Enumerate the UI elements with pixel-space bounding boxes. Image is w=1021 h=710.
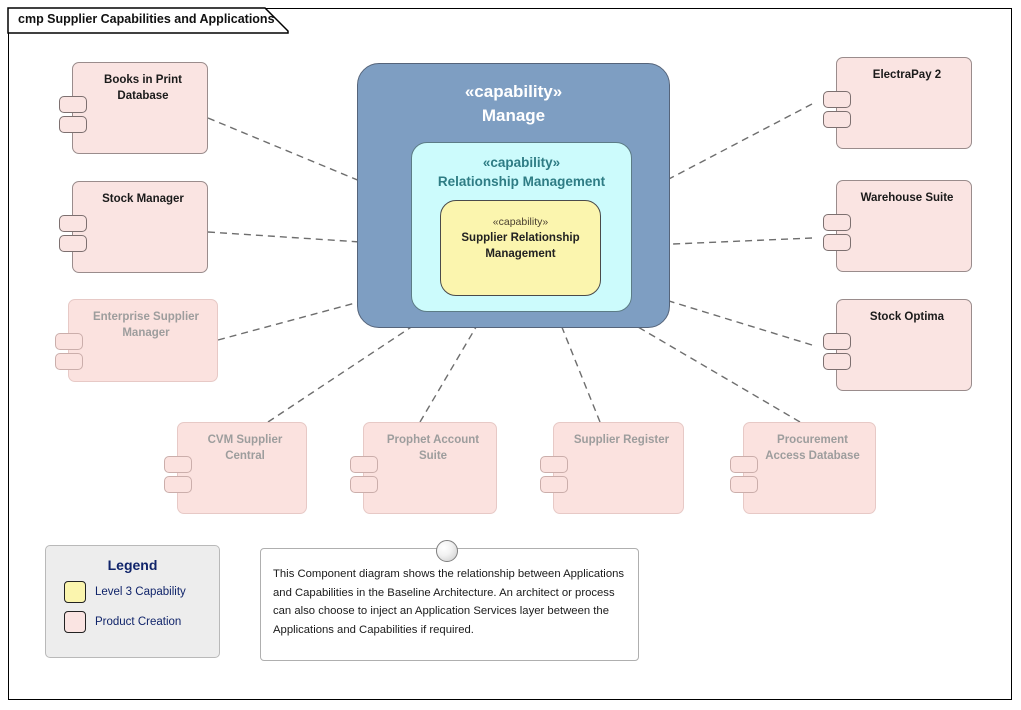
component-port-icon <box>55 333 83 350</box>
capability-relationship-management-stereotype: «capability» <box>483 153 560 172</box>
component-label: Warehouse Suite <box>851 190 963 206</box>
component-warehouse-suite[interactable]: Warehouse Suite <box>836 180 972 272</box>
legend-swatch-icon <box>64 611 86 633</box>
capability-supplier-relationship-management[interactable]: «capability» Supplier Relationship Manag… <box>440 200 601 296</box>
component-port-icon <box>164 456 192 473</box>
component-diagram: cmp Supplier Capabilities and Applicatio… <box>0 0 1021 710</box>
component-label: Books in Print Database <box>87 72 199 104</box>
legend-title: Legend <box>46 557 219 573</box>
legend-item-label: Level 3 Capability <box>95 586 186 598</box>
component-port-icon <box>823 234 851 251</box>
component-port-icon <box>730 476 758 493</box>
component-enterprise-supplier-manager[interactable]: Enterprise Supplier Manager <box>68 299 218 382</box>
component-stock-optima[interactable]: Stock Optima <box>836 299 972 391</box>
note[interactable]: This Component diagram shows the relatio… <box>260 548 639 661</box>
component-port-icon <box>59 96 87 113</box>
component-port-icon <box>823 353 851 370</box>
component-label: ElectraPay 2 <box>851 67 963 83</box>
legend: Legend Level 3 Capability Product Creati… <box>45 545 220 658</box>
component-label: Supplier Register <box>568 432 675 448</box>
component-cvm-supplier-central[interactable]: CVM Supplier Central <box>177 422 307 514</box>
component-port-icon <box>350 476 378 493</box>
component-port-icon <box>164 476 192 493</box>
component-port-icon <box>59 215 87 232</box>
component-procurement-access-database[interactable]: Procurement Access Database <box>743 422 876 514</box>
component-port-icon <box>730 456 758 473</box>
capability-manage-stereotype: «capability» <box>465 80 562 104</box>
component-stock-manager[interactable]: Stock Manager <box>72 181 208 273</box>
component-electrapay-2[interactable]: ElectraPay 2 <box>836 57 972 149</box>
component-port-icon <box>823 111 851 128</box>
capability-supplier-relationship-management-stereotype: «capability» <box>493 215 548 230</box>
component-label: Stock Manager <box>87 191 199 207</box>
capability-supplier-relationship-management-name: Supplier Relationship Management <box>441 230 600 262</box>
diagram-title: cmp Supplier Capabilities and Applicatio… <box>18 12 275 26</box>
component-prophet-account-suite[interactable]: Prophet Account Suite <box>363 422 497 514</box>
component-port-icon <box>540 456 568 473</box>
component-label: Prophet Account Suite <box>378 432 488 464</box>
component-port-icon <box>59 116 87 133</box>
component-books-in-print-database[interactable]: Books in Print Database <box>72 62 208 154</box>
component-port-icon <box>59 235 87 252</box>
component-supplier-register[interactable]: Supplier Register <box>553 422 684 514</box>
component-label: CVM Supplier Central <box>192 432 298 464</box>
note-text: This Component diagram shows the relatio… <box>273 565 626 639</box>
component-port-icon <box>823 91 851 108</box>
component-port-icon <box>823 333 851 350</box>
legend-item-label: Product Creation <box>95 616 181 628</box>
capability-manage-name: Manage <box>482 104 545 128</box>
component-label: Stock Optima <box>851 309 963 325</box>
component-port-icon <box>823 214 851 231</box>
capability-relationship-management-name: Relationship Management <box>438 172 605 191</box>
note-anchor-icon <box>436 540 458 562</box>
component-port-icon <box>540 476 568 493</box>
legend-item-level-3-capability: Level 3 Capability <box>64 581 219 603</box>
component-port-icon <box>55 353 83 370</box>
component-port-icon <box>350 456 378 473</box>
legend-swatch-icon <box>64 581 86 603</box>
component-label: Procurement Access Database <box>758 432 867 464</box>
legend-item-product-creation: Product Creation <box>64 611 219 633</box>
component-label: Enterprise Supplier Manager <box>83 309 209 341</box>
